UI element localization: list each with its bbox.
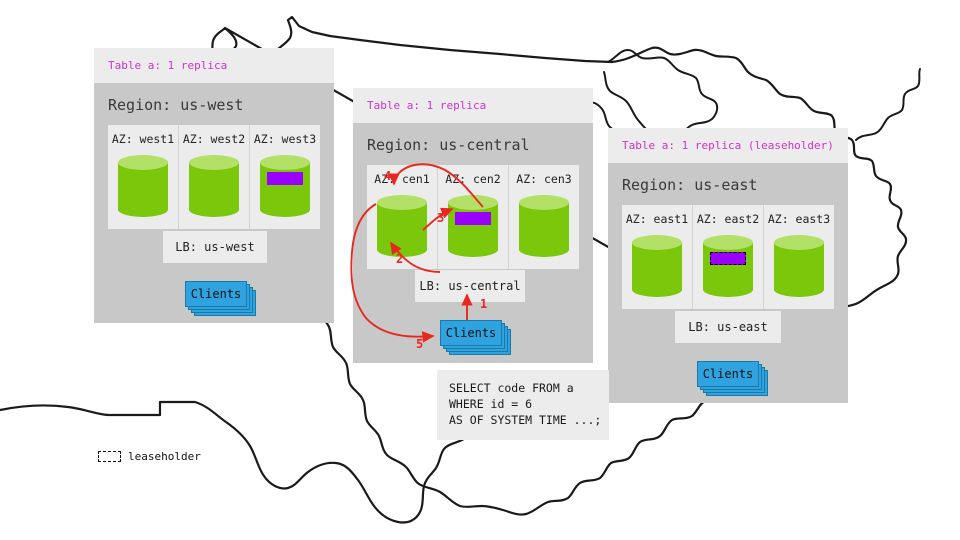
az-label-cen1: AZ: cen1 (367, 172, 437, 186)
table-replica-banner-us-central: Table a: 1 replica (353, 88, 593, 123)
node-east3[interactable] (764, 235, 834, 297)
az-label-east3: AZ: east3 (764, 212, 834, 226)
az-cell-east1[interactable]: AZ: east1 (622, 205, 693, 309)
database-cylinder-icon (260, 155, 310, 217)
az-cell-west2[interactable]: AZ: west2 (179, 125, 250, 229)
region-title-us-central: Region: us-central (353, 123, 593, 165)
legend-leaseholder: leaseholder (98, 450, 201, 463)
az-cell-cen3[interactable]: AZ: cen3 (509, 165, 579, 269)
az-row-us-west: AZ: west1 AZ: west2 (108, 125, 320, 229)
leaseholder-swatch-icon (98, 451, 121, 462)
replica-marker-cen2 (455, 212, 491, 225)
node-west1[interactable] (108, 155, 178, 217)
az-row-us-central: AZ: cen1 AZ: cen2 (367, 165, 579, 269)
az-cell-east2[interactable]: AZ: east2 (693, 205, 764, 309)
sql-query-box: SELECT code FROM a WHERE id = 6 AS OF SY… (437, 370, 609, 440)
load-balancer-us-east[interactable]: LB: us-east (675, 311, 781, 343)
az-label-east2: AZ: east2 (693, 212, 763, 226)
az-label-west3: AZ: west3 (250, 132, 320, 146)
az-cell-west3[interactable]: AZ: west3 (250, 125, 320, 229)
database-cylinder-icon (448, 195, 498, 257)
database-cylinder-icon (118, 155, 168, 217)
clients-label: Clients (446, 326, 497, 340)
database-cylinder-icon (703, 235, 753, 297)
node-west2[interactable] (179, 155, 249, 217)
region-title-us-east: Region: us-east (608, 163, 848, 205)
load-balancer-us-central[interactable]: LB: us-central (415, 270, 525, 302)
az-cell-west1[interactable]: AZ: west1 (108, 125, 179, 229)
az-label-cen3: AZ: cen3 (509, 172, 579, 186)
az-cell-cen2[interactable]: AZ: cen2 (438, 165, 509, 269)
legend-label: leaseholder (128, 450, 201, 463)
lb-label: LB: us-central (419, 279, 520, 293)
database-cylinder-icon (377, 195, 427, 257)
node-east2[interactable] (693, 235, 763, 297)
az-label-east1: AZ: east1 (622, 212, 692, 226)
database-cylinder-icon (632, 235, 682, 297)
clients-us-east[interactable]: Clients (697, 361, 769, 391)
az-cell-cen1[interactable]: AZ: cen1 (367, 165, 438, 269)
leaseholder-replica-marker-east2 (710, 252, 746, 265)
az-cell-east3[interactable]: AZ: east3 (764, 205, 834, 309)
node-west3[interactable] (250, 155, 320, 217)
clients-us-west[interactable]: Clients (185, 281, 257, 311)
database-cylinder-icon (189, 155, 239, 217)
lb-label: LB: us-east (688, 320, 767, 334)
replica-marker-west3 (267, 172, 303, 185)
clients-label: Clients (191, 287, 242, 301)
clients-label: Clients (703, 367, 754, 381)
region-title-us-west: Region: us-west (94, 83, 334, 125)
node-cen2[interactable] (438, 195, 508, 257)
table-replica-banner-us-west: Table a: 1 replica (94, 48, 334, 83)
database-cylinder-icon (774, 235, 824, 297)
table-replica-banner-us-east: Table a: 1 replica (leaseholder) (608, 128, 848, 163)
node-east1[interactable] (622, 235, 692, 297)
database-cylinder-icon (519, 195, 569, 257)
az-label-west2: AZ: west2 (179, 132, 249, 146)
lb-label: LB: us-west (175, 240, 254, 254)
diagram-canvas: Table a: 1 replica Region: us-west AZ: w… (0, 0, 960, 540)
load-balancer-us-west[interactable]: LB: us-west (163, 231, 267, 263)
az-label-cen2: AZ: cen2 (438, 172, 508, 186)
clients-us-central[interactable]: Clients (440, 320, 512, 350)
node-cen3[interactable] (509, 195, 579, 257)
node-cen1[interactable] (367, 195, 437, 257)
az-label-west1: AZ: west1 (108, 132, 178, 146)
az-row-us-east: AZ: east1 AZ: east2 (622, 205, 834, 309)
